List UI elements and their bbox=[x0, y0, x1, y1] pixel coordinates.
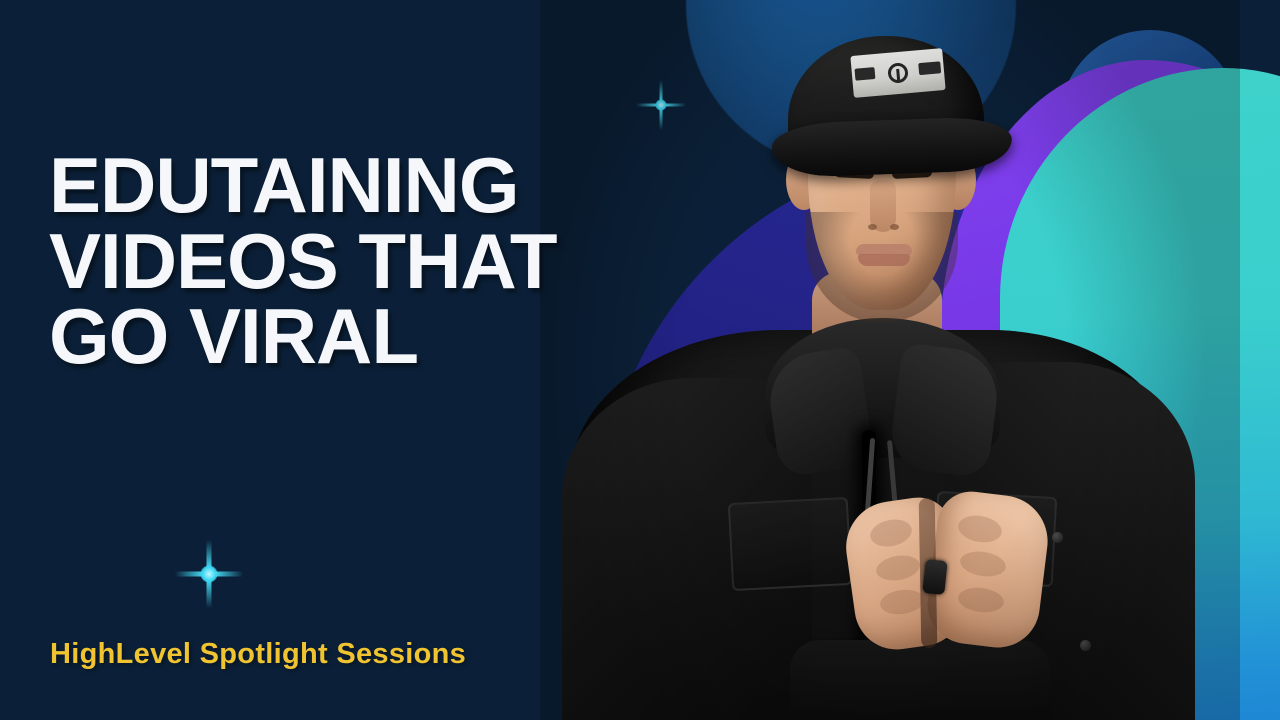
cap-patch-center-mark bbox=[887, 62, 909, 84]
jacket-button-upper bbox=[1052, 532, 1063, 543]
headline-line-2: VIDEOS THAT bbox=[49, 224, 729, 300]
sparkle-icon-bottom bbox=[175, 540, 243, 608]
subject-cap-brim bbox=[771, 116, 1013, 178]
subject-lip-lower bbox=[858, 254, 910, 266]
series-subtitle: HighLevel Spotlight Sessions bbox=[50, 638, 466, 671]
thumbnail-canvas: EDUTAINING VIDEOS THAT GO VIRAL HighLeve… bbox=[0, 0, 1280, 720]
subject-nostril-left bbox=[868, 224, 877, 230]
subject-nostril-right bbox=[890, 224, 899, 230]
page-title: EDUTAINING VIDEOS THAT GO VIRAL bbox=[49, 148, 729, 375]
jacket-hem bbox=[790, 640, 1050, 720]
subject-finger-ring bbox=[922, 559, 947, 595]
jacket-pocket-left bbox=[728, 497, 852, 591]
headline-line-1: EDUTAINING bbox=[49, 148, 729, 224]
cap-patch-left-mark bbox=[854, 67, 875, 81]
cap-patch-right-mark bbox=[918, 61, 941, 75]
sparkle-core bbox=[201, 566, 218, 583]
cap-logo-patch bbox=[850, 48, 945, 98]
headline-line-3: GO VIRAL bbox=[49, 299, 729, 375]
jacket-button-lower bbox=[1080, 640, 1091, 651]
